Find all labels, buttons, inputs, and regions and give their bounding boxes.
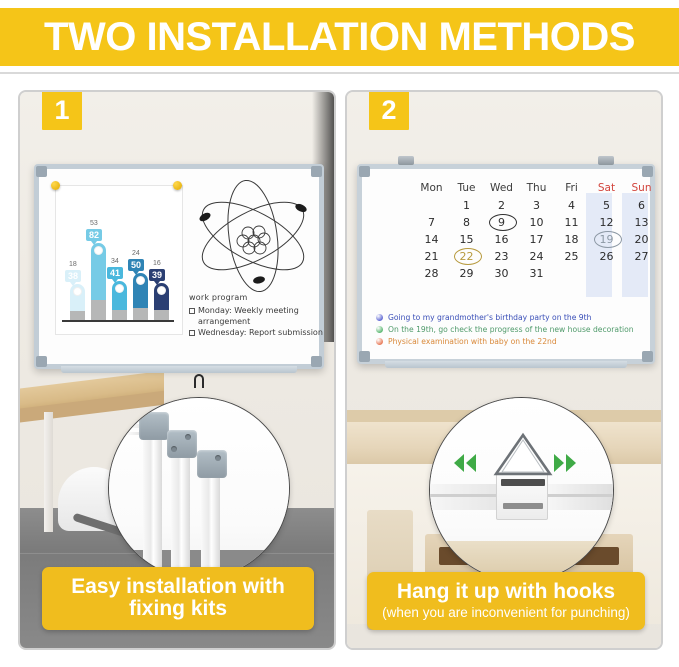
bar-base [154, 310, 169, 320]
caption-line-1: Easy installation with [50, 576, 306, 599]
bar-column: 8253 [91, 243, 106, 320]
bar-column: 5024 [133, 273, 148, 320]
calendar-notes: Going to my grandmother's birthday party… [376, 313, 662, 349]
calendar-day-19[interactable]: 19 [589, 231, 624, 248]
bracket-slot [501, 479, 545, 486]
calendar-day-18[interactable]: 18 [554, 231, 589, 248]
bar-value-label: 41 [110, 268, 120, 278]
calendar-day-empty [414, 197, 449, 214]
note-bullet-icon [376, 326, 383, 333]
wall-hook-icon [194, 374, 204, 388]
arrow-right-icon [554, 454, 564, 472]
bar-top-label: 24 [132, 250, 140, 257]
screw-hole-icon [171, 446, 177, 452]
arrow-left-icons [454, 454, 476, 472]
calendar-week-row: 14151617181920 [414, 231, 660, 248]
calendar-day-20[interactable]: 20 [624, 231, 659, 248]
wall-mount-bracket [197, 450, 227, 478]
marker-tray [61, 366, 296, 373]
calendar-day-2[interactable]: 2 [484, 197, 519, 214]
calendar-day-circled[interactable]: 19 [595, 231, 619, 248]
board-corner [359, 351, 370, 362]
detail-circle-hanging-hook [429, 397, 614, 582]
calendar-day-24[interactable]: 24 [519, 248, 554, 265]
bar-column: 3916 [154, 283, 169, 320]
board-corner [642, 351, 653, 362]
step-number-badge: 1 [42, 90, 82, 130]
whiteboard-surface: 38188253413450243916 [39, 169, 319, 364]
work-program-item-label: arrangement [198, 317, 250, 327]
arrow-left-icon [454, 454, 464, 472]
calendar-day-5[interactable]: 5 [589, 197, 624, 214]
work-program-item[interactable]: Monday: Weekly meeting [189, 306, 325, 316]
calendar-weekday-mon: Mon [414, 179, 449, 197]
bar-value-label: 82 [89, 230, 99, 240]
calendar-day-25[interactable]: 25 [554, 248, 589, 265]
bar-base [112, 310, 127, 320]
slider-bracket[interactable] [496, 472, 548, 520]
calendar-note: Physical examination with baby on the 22… [376, 337, 662, 346]
note-text: On the 19th, go check the progress of th… [388, 325, 634, 334]
bar-value-badge: 38 [65, 270, 81, 282]
wall-mount-bracket [167, 430, 197, 458]
note-bullet-icon [376, 338, 383, 345]
hook-mount-icon [398, 156, 414, 165]
caption-method-2: Hang it up with hooks (when you are inco… [367, 572, 645, 630]
magnet-icon [51, 181, 60, 190]
note-bullet-icon [376, 314, 383, 321]
bar-value-badge: 82 [86, 229, 102, 241]
checkbox-icon[interactable] [189, 330, 195, 336]
calendar-day-4[interactable]: 4 [554, 197, 589, 214]
calendar-day-8[interactable]: 8 [449, 214, 484, 231]
corner-bracket [139, 412, 169, 440]
bar-value-badge: 39 [149, 269, 165, 281]
calendar-day-29[interactable]: 29 [449, 265, 484, 282]
calendar-day-31[interactable]: 31 [519, 265, 554, 282]
bar-top-label: 18 [69, 261, 77, 268]
calendar-day-12[interactable]: 12 [589, 214, 624, 231]
board-corner [311, 356, 322, 367]
work-program-title: work program [189, 293, 325, 302]
board-corner [359, 166, 370, 177]
bar-top-label: 53 [90, 220, 98, 227]
detail-circle-fixing-kit [108, 397, 290, 579]
page-title: TWO INSTALLATION METHODS [44, 15, 635, 60]
calendar-weekday-fri: Fri [554, 179, 589, 197]
frame-rail [171, 438, 190, 579]
work-program-item-continued: arrangement [189, 317, 325, 327]
bar-chart-bars: 38188253413450243916 [66, 212, 174, 320]
caption-line-2: fixing kits [50, 598, 306, 621]
calendar-day-23[interactable]: 23 [484, 248, 519, 265]
calendar-weekday-sun: Sun [624, 179, 659, 197]
whiteboard-right: MonTueWedThuFriSatSun1234567891011121314… [357, 164, 655, 364]
calendar-grid: MonTueWedThuFriSatSun1234567891011121314… [414, 179, 660, 282]
calendar-weekday-tue: Tue [449, 179, 484, 197]
bar-value-badge: 50 [128, 259, 144, 271]
bar-chart: 38188253413450243916 [55, 185, 183, 335]
calendar-day-27[interactable]: 27 [624, 248, 659, 265]
header-banner: TWO INSTALLATION METHODS [0, 8, 679, 66]
calendar-day-15[interactable]: 15 [449, 231, 484, 248]
calendar-week-row: 21222324252627 [414, 248, 660, 265]
calendar-day-empty [554, 265, 589, 282]
calendar-day-30[interactable]: 30 [484, 265, 519, 282]
work-program-item[interactable]: Wednesday: Report submission [189, 328, 325, 338]
calendar-week-row: 78910111213 [414, 214, 660, 231]
screw-hole-icon [215, 455, 221, 461]
calendar-day-6[interactable]: 6 [624, 197, 659, 214]
arrow-right-icons [554, 454, 576, 472]
triangle-hanger-icon [492, 432, 554, 478]
calendar-day-empty [589, 265, 624, 282]
bar-top-label: 16 [153, 260, 161, 267]
bar-marker-dot [157, 286, 166, 295]
calendar-note: Going to my grandmother's birthday party… [376, 313, 662, 322]
calendar-day-10[interactable]: 10 [519, 214, 554, 231]
bar-base [133, 308, 148, 320]
calendar-day-3[interactable]: 3 [519, 197, 554, 214]
calendar-day-22[interactable]: 22 [449, 248, 484, 265]
calendar-week-row: 123456 [414, 197, 660, 214]
calendar-day-21[interactable]: 21 [414, 248, 449, 265]
magnet-icon [173, 181, 182, 190]
calendar-day-28[interactable]: 28 [414, 265, 449, 282]
calendar-day-1[interactable]: 1 [449, 197, 484, 214]
caption-line-2: (when you are inconvenient for punching) [375, 605, 637, 621]
chart-axis-line [62, 320, 174, 322]
checkbox-icon[interactable] [189, 308, 195, 314]
caption-method-1: Easy installation with fixing kits [42, 567, 314, 630]
bar-base [70, 311, 85, 320]
calendar-weekday-thu: Thu [519, 179, 554, 197]
work-program-item-label: Monday: Weekly meeting [198, 306, 299, 316]
panel-method-1: 38188253413450243916 [18, 90, 336, 650]
bar-top-label: 34 [111, 258, 119, 265]
bar-marker-dot [136, 276, 145, 285]
desk-leg [44, 412, 53, 532]
bracket-slot [503, 503, 543, 509]
bar-column: 4134 [112, 281, 127, 320]
screw-hole-icon [185, 434, 191, 440]
board-corner [642, 166, 653, 177]
calendar-week-row: 28293031 [414, 265, 660, 282]
panel-method-2: MonTueWedThuFriSatSun1234567891011121314… [345, 90, 663, 650]
arrow-left-icon [466, 454, 476, 472]
calendar-day-9[interactable]: 9 [484, 214, 519, 231]
calendar-day-14[interactable]: 14 [414, 231, 449, 248]
board-corner [36, 166, 47, 177]
calendar-weekday-wed: Wed [484, 179, 519, 197]
board-corner [36, 356, 47, 367]
bar-marker-dot [73, 287, 82, 296]
calendar-day-empty [624, 265, 659, 282]
whiteboard-left: 38188253413450243916 [34, 164, 324, 369]
hook-mount-icon [598, 156, 614, 165]
arrow-right-icon [566, 454, 576, 472]
bar-value-label: 39 [152, 270, 162, 280]
note-text: Physical examination with baby on the 22… [388, 337, 557, 346]
header-divider [0, 72, 679, 74]
work-program-item-label: Wednesday: Report submission [198, 328, 323, 338]
bar-base [91, 300, 106, 320]
calendar-day-17[interactable]: 17 [519, 231, 554, 248]
bar-column: 3818 [70, 284, 85, 320]
calendar-header-row: MonTueWedThuFriSatSun [414, 179, 660, 197]
calendar-day-26[interactable]: 26 [589, 248, 624, 265]
marker-tray [385, 361, 627, 368]
work-program-list: work program Monday: Weekly meeting arra… [189, 293, 325, 339]
whiteboard-surface: MonTueWedThuFriSatSun1234567891011121314… [362, 169, 650, 359]
note-text: Going to my grandmother's birthday party… [388, 313, 591, 322]
calendar-day-13[interactable]: 13 [624, 214, 659, 231]
bar-value-label: 38 [68, 271, 78, 281]
bar-value-badge: 41 [107, 267, 123, 279]
bar-marker-dot [115, 284, 124, 293]
calendar-note: On the 19th, go check the progress of th… [376, 325, 662, 334]
caption-line-1: Hang it up with hooks [375, 581, 637, 604]
calendar-day-11[interactable]: 11 [554, 214, 589, 231]
board-corner [311, 166, 322, 177]
calendar-day-circled[interactable]: 22 [455, 248, 479, 265]
calendar: MonTueWedThuFriSatSun1234567891011121314… [370, 177, 642, 351]
frame-rail [143, 420, 162, 579]
bar-marker-dot [94, 246, 103, 255]
bar-value-label: 50 [131, 260, 141, 270]
calendar-day-16[interactable]: 16 [484, 231, 519, 248]
calendar-weekday-sat: Sat [589, 179, 624, 197]
atom-doodle-icon [185, 177, 321, 295]
calendar-day-7[interactable]: 7 [414, 214, 449, 231]
step-number-badge: 2 [369, 90, 409, 130]
calendar-day-circled[interactable]: 9 [490, 214, 514, 231]
